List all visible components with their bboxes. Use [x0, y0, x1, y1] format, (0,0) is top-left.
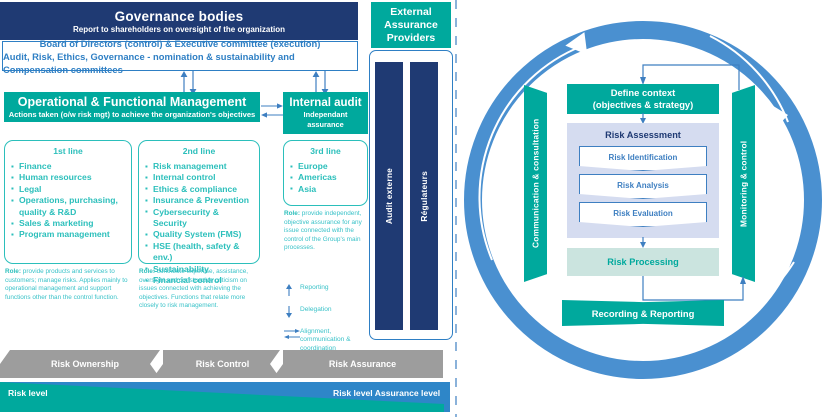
governance-title: Governance bodies: [115, 9, 244, 24]
list-item: Finance: [11, 161, 125, 172]
list-item-continuation: quality & R&D: [11, 207, 125, 218]
second-line-card: 2nd line Risk management Internal contro…: [138, 140, 260, 264]
risk-culture-label: Risk culture: [591, 6, 696, 17]
list-item: Program management: [11, 229, 125, 240]
governance-body-line-1: Board of Directors (control) & Executive…: [40, 37, 321, 50]
define-context-line-1: Define context: [611, 87, 676, 98]
risk-evaluation-label: Risk Evaluation: [579, 202, 707, 227]
double-arrow-icon: [284, 328, 300, 346]
list-item: Sales & marketing: [11, 218, 125, 229]
role-label: Role:: [139, 268, 155, 275]
list-item: Americas: [290, 172, 361, 183]
role-label: Role:: [284, 210, 300, 217]
alignment-arrows-ops-audit: [261, 102, 283, 122]
third-line-list: Europe Americas Asia: [290, 161, 361, 195]
chevron-label-risk-ownership: Risk Ownership: [20, 350, 150, 378]
role-body: contribute expertise, assistance, oversi…: [139, 268, 248, 309]
monitoring-control-label: Monitoring & control: [732, 85, 755, 282]
internal-audit-subtitle-1: Independant: [304, 110, 348, 119]
internal-audit-title: Internal audit: [289, 97, 361, 109]
list-item: Operations, purchasing,: [11, 195, 125, 206]
first-line-header: 1st line: [11, 146, 125, 156]
governance-bodies-body: Board of Directors (control) & Executive…: [2, 41, 358, 71]
second-line-header: 2nd line: [145, 146, 253, 156]
arrow-up-icon: [284, 284, 300, 302]
risk-management-process-panel: Risk culture Communication & consultatio…: [458, 0, 828, 417]
regulators-label: Régulateurs: [419, 171, 429, 222]
risk-identification-label: Risk Identification: [579, 146, 707, 171]
external-audit-label: Audit externe: [384, 168, 394, 224]
internal-audit-header: Internal audit Independant assurance: [283, 92, 368, 134]
third-line-role-text: Role: provide independent, objective ass…: [284, 210, 364, 253]
operational-title: Operational & Functional Management: [18, 95, 247, 109]
list-item: Cybersecurity & Security: [145, 207, 253, 230]
chevron-label-risk-control: Risk Control: [165, 350, 280, 378]
external-assurance-title: External Assurance Providers: [371, 6, 451, 45]
legend-row-reporting: Reporting: [284, 284, 370, 302]
recording-reporting-box: Recording & Reporting: [562, 300, 724, 326]
regulators-column: Régulateurs: [410, 62, 438, 330]
governance-subtitle: Report to shareholders on oversight of t…: [73, 25, 285, 34]
three-lines-of-defence-panel: Governance bodies Report to shareholders…: [0, 0, 458, 417]
risk-assessment-title: Risk Assessment: [567, 127, 719, 143]
risk-identification-box: Risk Identification: [579, 146, 707, 171]
list-item: HSE (health, safety & env.): [145, 241, 253, 264]
first-line-card: 1st line Finance Human resources Legal O…: [4, 140, 132, 264]
risk-analysis-label: Risk Analysis: [579, 174, 707, 199]
assurance-level-label: Risk level Assurance level: [333, 388, 440, 398]
panel-divider: [455, 0, 457, 417]
legend-row-delegation: Delegation: [284, 306, 370, 324]
recording-reporting-label: Recording & Reporting: [562, 300, 724, 326]
external-assurance-providers-header: External Assurance Providers: [371, 2, 451, 48]
list-item: Europe: [290, 161, 361, 172]
governance-bodies-header: Governance bodies Report to shareholders…: [0, 2, 358, 40]
risk-analysis-box: Risk Analysis: [579, 174, 707, 199]
define-context-line-2: (objectives & strategy): [593, 99, 694, 110]
third-line-card: 3rd line Europe Americas Asia: [283, 140, 368, 206]
list-item: Legal: [11, 184, 125, 195]
operational-subtitle: Actions taken (o/w risk mgt) to achieve …: [9, 110, 256, 119]
legend-label: Reporting: [300, 284, 329, 292]
internal-audit-subtitle-2: assurance: [307, 120, 344, 129]
second-line-role-text: Role: contribute expertise, assistance, …: [139, 268, 263, 311]
list-item: Asia: [290, 184, 361, 195]
operational-functional-management-header: Operational & Functional Management Acti…: [4, 92, 260, 122]
chevron-label-risk-assurance: Risk Assurance: [290, 350, 435, 378]
risk-level-label: Risk level: [8, 388, 48, 398]
list-item: Human resources: [11, 172, 125, 183]
role-body: provide products and services to custome…: [5, 268, 128, 301]
communication-consultation-bar: Communication & consultation: [524, 85, 547, 282]
arrow-assessment-to-processing: [638, 237, 650, 248]
third-line-header: 3rd line: [290, 146, 361, 156]
monitoring-control-bar: Monitoring & control: [732, 85, 755, 282]
role-label: Role:: [5, 268, 21, 275]
list-item: Ethics & compliance: [145, 184, 253, 195]
legend-label: Delegation: [300, 306, 332, 314]
first-line-list: Finance Human resources Legal Operations…: [11, 161, 125, 241]
list-item: Insurance & Prevention: [145, 195, 253, 206]
risk-evaluation-box: Risk Evaluation: [579, 202, 707, 227]
arrow-legend: Reporting Delegation Alignment, communic…: [284, 284, 370, 357]
list-item: Internal control: [145, 172, 253, 183]
list-item: Risk management: [145, 161, 253, 172]
first-line-role-text: Role: provide products and services to c…: [5, 268, 131, 302]
communication-consultation-label: Communication & consultation: [524, 85, 547, 282]
define-context-box: Define context (objectives & strategy): [567, 84, 719, 114]
list-item: Quality System (FMS): [145, 229, 253, 240]
risk-processing-box: Risk Processing: [567, 248, 719, 276]
arrow-down-icon: [284, 306, 300, 324]
external-audit-column: Audit externe: [375, 62, 403, 330]
